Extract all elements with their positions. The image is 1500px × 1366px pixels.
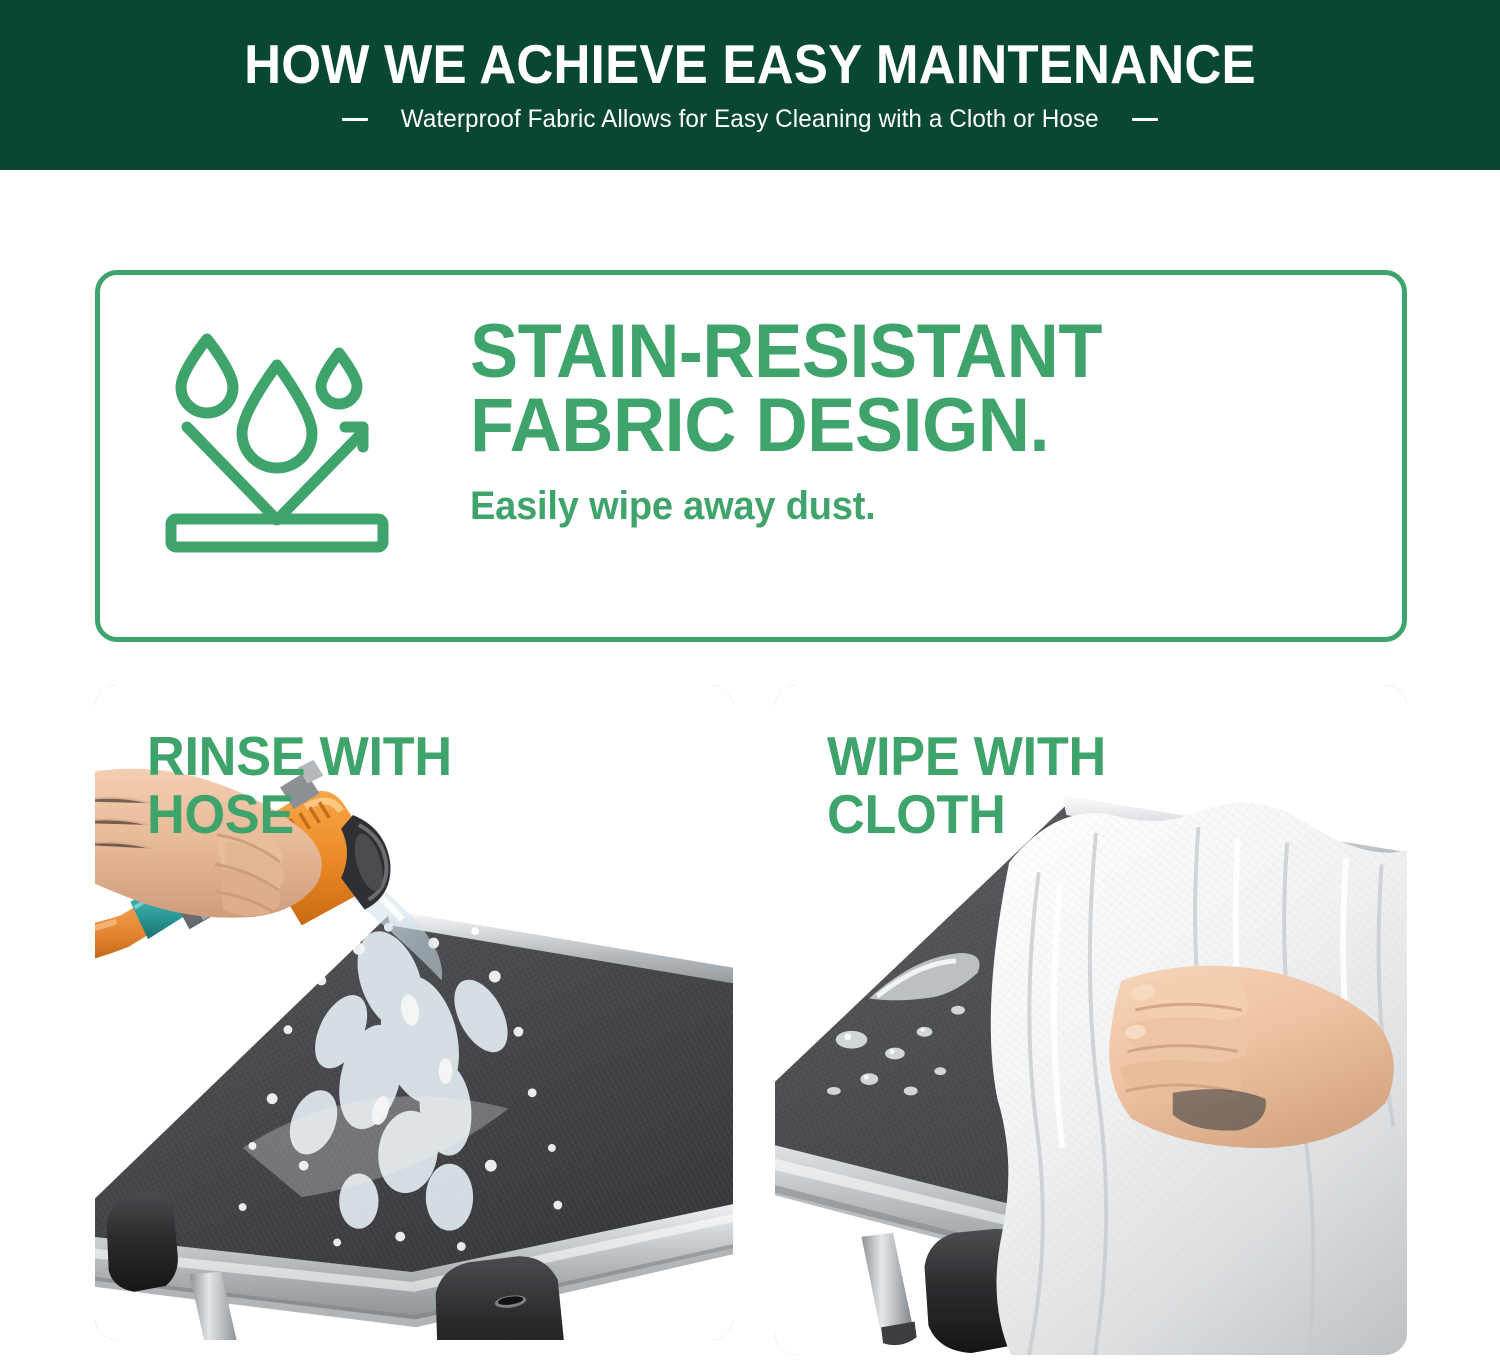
feature-text-block: STAIN-RESISTANT FABRIC DESIGN. Easily wi…: [470, 315, 1320, 529]
water-repellent-fabric-icon: [155, 323, 400, 563]
infographic-page: HOW WE ACHIEVE EASY MAINTENANCE Waterpro…: [0, 0, 1500, 1366]
left-dash-icon: [342, 118, 368, 121]
wipe-with-cloth-card: WIPE WITH CLOTH: [775, 685, 1407, 1355]
header-banner: HOW WE ACHIEVE EASY MAINTENANCE Waterpro…: [0, 0, 1500, 170]
hose-rinsing-pet-cot-photo: [95, 685, 733, 1340]
feature-card-stain-resistant: STAIN-RESISTANT FABRIC DESIGN. Easily wi…: [95, 270, 1407, 642]
feature-headline-line1: STAIN-RESISTANT: [470, 315, 1278, 389]
page-subtitle: Waterproof Fabric Allows for Easy Cleani…: [401, 105, 1099, 134]
rinse-with-hose-card: RINSE WITH HOSE: [95, 685, 733, 1340]
subtitle-row: Waterproof Fabric Allows for Easy Cleani…: [342, 105, 1158, 134]
right-dash-icon: [1132, 118, 1158, 121]
feature-subline: Easily wipe away dust.: [470, 484, 1278, 529]
page-title: HOW WE ACHIEVE EASY MAINTENANCE: [244, 36, 1256, 92]
feature-headline-line2: FABRIC DESIGN.: [470, 389, 1278, 463]
cloth-wiping-pet-cot-photo: [775, 685, 1407, 1355]
